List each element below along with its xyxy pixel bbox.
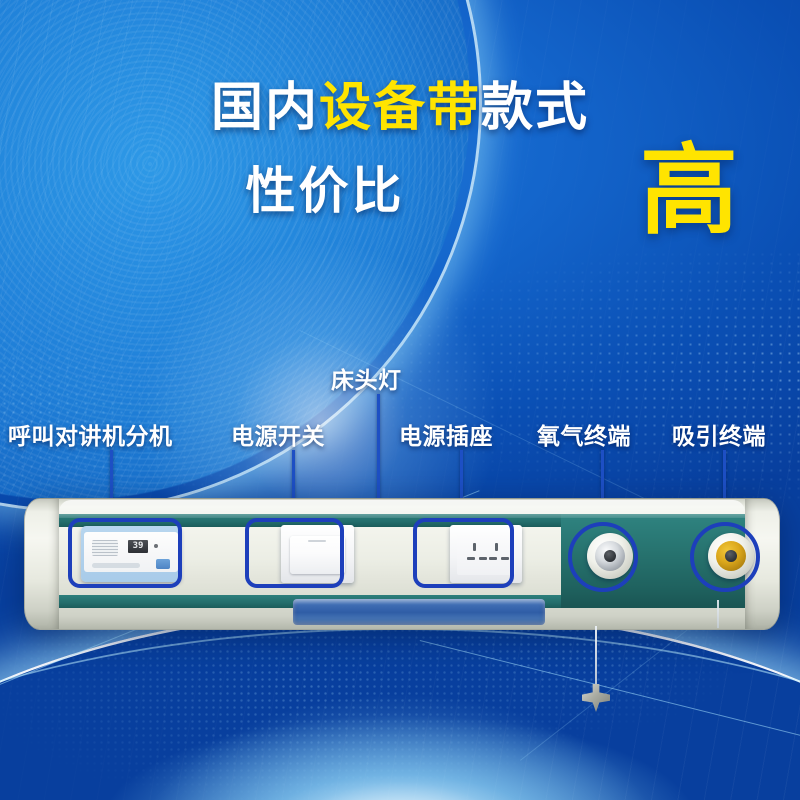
headline-block: 国内设备带款式 性价比 xyxy=(0,82,800,216)
diagonal-streaks xyxy=(0,0,800,800)
bed-head-light-diffuser[interactable] xyxy=(293,599,545,625)
horizon-arc xyxy=(0,607,800,800)
intercom-faceplate: 39 xyxy=(84,532,178,572)
rocker-paddle[interactable] xyxy=(290,536,345,574)
socket-pin-a2 xyxy=(467,557,475,560)
promo-banner: 国内设备带款式 性价比 高 呼叫对讲机分机 电源开关 床头灯 电源插座 氧气终端… xyxy=(0,0,800,800)
headline-part-2: 设备带 xyxy=(319,78,481,138)
socket-pin-b3 xyxy=(501,557,509,560)
suction-hose-cord xyxy=(717,600,719,628)
halftone-dots-right xyxy=(380,250,800,500)
socket-pin-a1 xyxy=(473,543,476,551)
headline-accent-gao: 高 xyxy=(640,142,738,240)
pull-cord[interactable] xyxy=(595,626,597,692)
intercom-display: 39 xyxy=(128,540,148,553)
oxygen-outlet-terminal[interactable] xyxy=(587,533,633,579)
callout-label-intercom: 呼叫对讲机分机 xyxy=(8,417,173,451)
suction-port-core xyxy=(725,550,737,562)
wall-rocker-switch[interactable] xyxy=(281,525,354,583)
pull-cord-handle[interactable] xyxy=(582,684,610,712)
speaker-grille-icon xyxy=(92,540,118,556)
panel-body: 39 xyxy=(24,498,780,630)
panel-endcap-left xyxy=(25,499,59,629)
suction-port-ring xyxy=(716,541,746,571)
headline-line-1: 国内设备带款式 xyxy=(0,82,800,134)
callout-label-oxygen: 氧气终端 xyxy=(537,417,631,451)
intercom-call-button[interactable] xyxy=(156,559,170,569)
headline-part-3: 款式 xyxy=(481,78,589,138)
socket-pin-b2 xyxy=(489,557,497,560)
socket-pin-a3 xyxy=(479,557,487,560)
halftone-dots-left xyxy=(0,300,300,490)
nurse-call-intercom-extension[interactable]: 39 xyxy=(81,526,181,582)
oxygen-port-ring xyxy=(595,541,625,571)
status-led-icon xyxy=(154,544,158,548)
socket-pin-b1 xyxy=(495,543,498,551)
decor-line-2 xyxy=(420,640,800,767)
callout-label-suction: 吸引终端 xyxy=(672,417,766,451)
universal-power-socket[interactable] xyxy=(450,525,522,583)
headline-part-1: 国内 xyxy=(211,78,319,138)
horizon-arc-secondary xyxy=(0,628,800,800)
callout-label-power-switch: 电源开关 xyxy=(231,417,325,451)
suction-outlet-terminal[interactable] xyxy=(708,533,754,579)
intercom-mic-slot xyxy=(92,563,140,568)
socket-faceplate xyxy=(457,533,515,575)
callout-label-power-socket: 电源插座 xyxy=(399,417,493,451)
bottom-glow xyxy=(0,630,800,800)
callout-label-bed-lamp: 床头灯 xyxy=(331,361,402,395)
medical-bed-head-unit: 39 xyxy=(24,498,780,630)
oxygen-port-core xyxy=(604,550,616,562)
headline-line-2: 性价比 xyxy=(0,166,800,216)
